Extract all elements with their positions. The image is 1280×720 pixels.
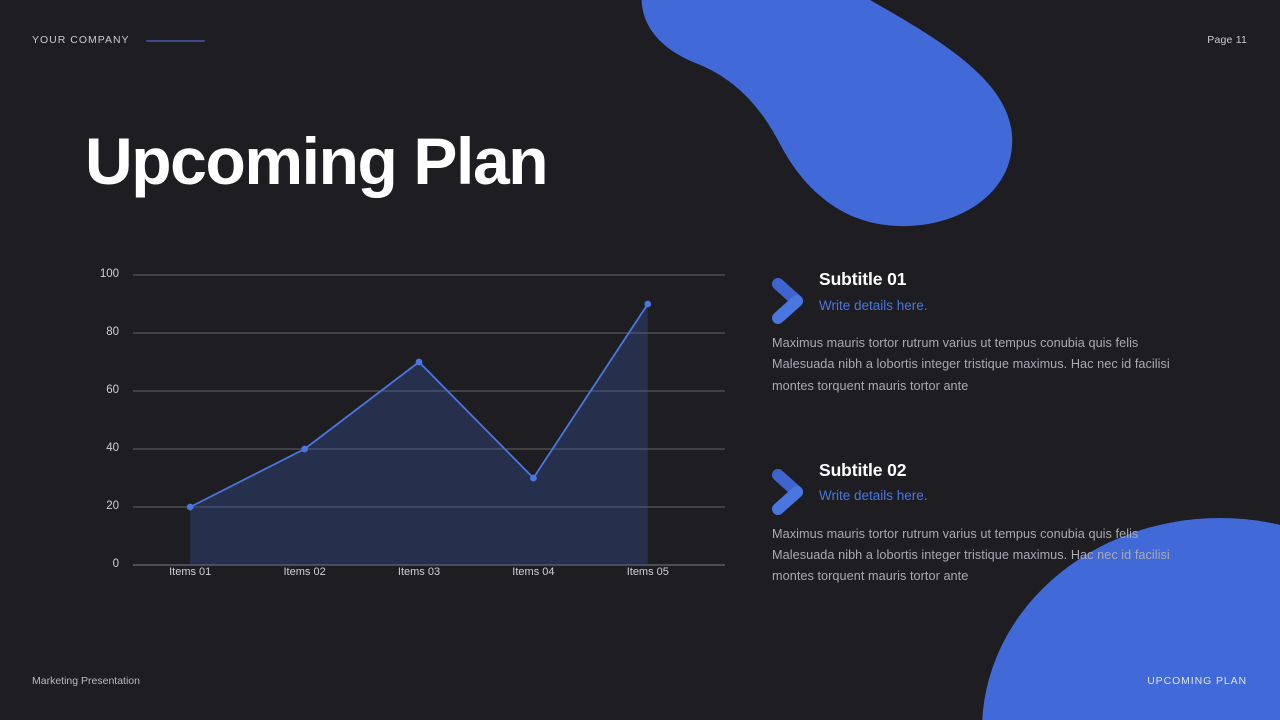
feature-body: Maximus mauris tortor rutrum varius ut t…	[772, 333, 1192, 397]
header-rule-icon	[146, 40, 205, 42]
feature-heading: Subtitle 02 Write details here.	[772, 459, 1192, 505]
footer-left-label: Marketing Presentation	[32, 675, 140, 687]
y-axis-tick: 80	[85, 326, 119, 338]
x-axis-tick: Items 02	[245, 566, 365, 578]
feature-body: Maximus mauris tortor rutrum varius ut t…	[772, 524, 1192, 588]
y-axis-tick: 100	[85, 268, 119, 280]
feature-block: Subtitle 01 Write details here. Maximus …	[772, 268, 1192, 397]
x-axis-tick: Items 01	[130, 566, 250, 578]
y-axis-tick: 40	[85, 442, 119, 454]
footer-right-label: UPCOMING PLAN	[1147, 675, 1247, 687]
x-axis-tick: Items 04	[473, 566, 593, 578]
chevron-right-icon	[772, 469, 806, 515]
company-label: YOUR COMPANY	[32, 34, 130, 46]
feature-block: Subtitle 02 Write details here. Maximus …	[772, 459, 1192, 588]
chart-canvas	[85, 258, 725, 598]
area-chart: 020406080100Items 01Items 02Items 03Item…	[85, 258, 725, 598]
x-axis-tick: Items 05	[588, 566, 708, 578]
feature-title: Subtitle 01	[819, 268, 1192, 292]
feature-title: Subtitle 02	[819, 459, 1192, 483]
feature-subtitle[interactable]: Write details here.	[819, 487, 1192, 505]
chevron-right-icon	[772, 278, 806, 324]
y-axis-tick: 60	[85, 384, 119, 396]
page-title: Upcoming Plan	[85, 128, 547, 194]
page-number: Page 11	[1207, 34, 1247, 46]
features-panel: Subtitle 01 Write details here. Maximus …	[772, 268, 1192, 588]
x-axis-tick: Items 03	[359, 566, 479, 578]
slide-header: YOUR COMPANY Page 11	[0, 0, 1280, 82]
feature-heading: Subtitle 01 Write details here.	[772, 268, 1192, 314]
y-axis-tick: 20	[85, 500, 119, 512]
feature-subtitle[interactable]: Write details here.	[819, 297, 1192, 315]
y-axis-tick: 0	[85, 558, 119, 570]
